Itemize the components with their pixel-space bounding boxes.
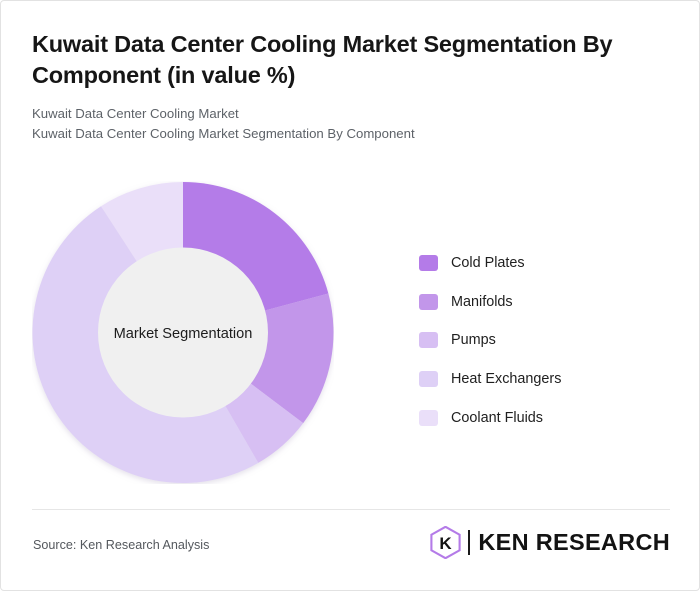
footer-divider (32, 509, 670, 510)
brand-mark-letter: K (440, 534, 453, 553)
legend-label: Pumps (451, 332, 496, 348)
chart-card: Kuwait Data Center Cooling Market Segmen… (0, 0, 700, 591)
legend-item[interactable]: Coolant Fluids (419, 398, 669, 437)
legend-item[interactable]: Pumps (419, 321, 669, 360)
chart-header: Kuwait Data Center Cooling Market Segmen… (32, 29, 672, 144)
hexagon-k-icon: K (430, 526, 461, 559)
brand-logo: K KEN RESEARCH (430, 525, 670, 559)
legend-item[interactable]: Heat Exchangers (419, 360, 669, 399)
legend-swatch-icon (419, 332, 438, 348)
legend-label: Heat Exchangers (451, 371, 561, 387)
ken-research-mark-icon: K (430, 526, 461, 559)
legend-item[interactable]: Cold Plates (419, 244, 669, 283)
legend-label: Cold Plates (451, 255, 525, 271)
source-note: Source: Ken Research Analysis (33, 538, 209, 552)
legend-swatch-icon (419, 294, 438, 310)
brand-separator (468, 530, 470, 555)
legend-swatch-icon (419, 371, 438, 387)
donut-chart: Market Segmentation (32, 181, 334, 484)
legend-label: Manifolds (451, 294, 513, 310)
chart-area: Market Segmentation Cold PlatesManifolds… (1, 166, 700, 496)
subtitle-line-2: Kuwait Data Center Cooling Market Segmen… (32, 124, 672, 144)
legend-swatch-icon (419, 410, 438, 426)
page-title: Kuwait Data Center Cooling Market Segmen… (32, 29, 662, 91)
chart-legend: Cold PlatesManifoldsPumpsHeat Exchangers… (419, 244, 669, 437)
donut-center-label: Market Segmentation (114, 326, 253, 342)
brand-name: KEN RESEARCH (478, 529, 670, 556)
legend-swatch-icon (419, 255, 438, 271)
legend-item[interactable]: Manifolds (419, 283, 669, 322)
subtitle-block: Kuwait Data Center Cooling Market Kuwait… (32, 104, 672, 144)
donut-svg: Market Segmentation (32, 181, 334, 484)
legend-label: Coolant Fluids (451, 410, 543, 426)
subtitle-line-1: Kuwait Data Center Cooling Market (32, 104, 672, 124)
